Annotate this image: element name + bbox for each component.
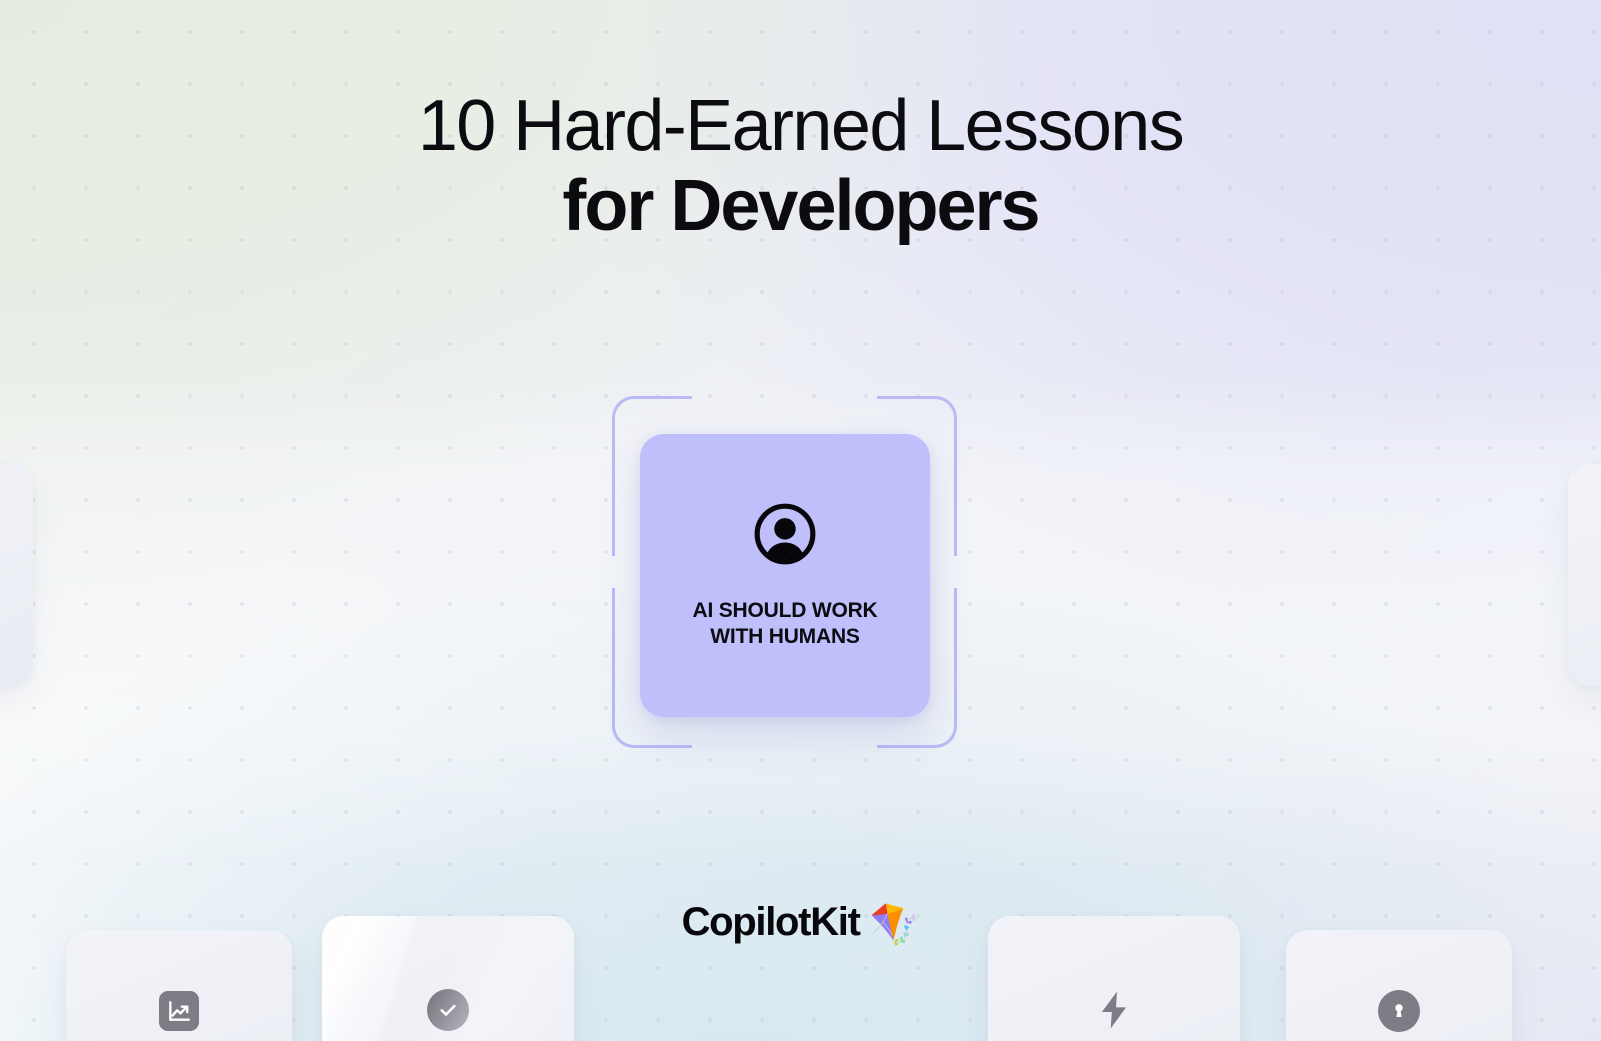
focused-card-label: AI SHOULD WORK WITH HUMANS — [692, 598, 877, 650]
trending-up-chart-icon — [159, 991, 199, 1031]
kite-icon: 🪁 — [870, 905, 920, 945]
page-title: 10 Hard-Earned Lessons for Developers — [0, 86, 1601, 246]
carousel-card-ai-works-with-humans[interactable]: AI SHOULD WORK WITH HUMANS — [640, 434, 930, 717]
keyhole-lock-icon — [1378, 990, 1420, 1032]
title-line-2: for Developers — [0, 166, 1601, 246]
brand-logo: CopilotKit 🪁 — [0, 900, 1601, 945]
slide-canvas: 10 Hard-Earned Lessons for Developers SE… — [0, 0, 1601, 1041]
carousel-card-set-clear-objectives-a[interactable]: SET CLEAR OBJECTIVES — [66, 930, 292, 1041]
carousel-card-prioritize-security[interactable]: PRIORITIZE SECURITY & PROVACY — [1286, 930, 1512, 1041]
title-line-1: 10 Hard-Earned Lessons — [0, 86, 1601, 166]
check-circle-icon — [427, 989, 469, 1031]
user-avatar-icon — [752, 501, 818, 572]
brand-name: CopilotKit — [682, 900, 860, 945]
carousel-card-partial-right[interactable] — [1568, 464, 1601, 686]
lightning-bolt-icon — [1091, 987, 1137, 1033]
focused-card-wrapper[interactable]: AI SHOULD WORK WITH HUMANS — [612, 396, 957, 748]
carousel-card-partial-left[interactable] — [0, 464, 33, 686]
